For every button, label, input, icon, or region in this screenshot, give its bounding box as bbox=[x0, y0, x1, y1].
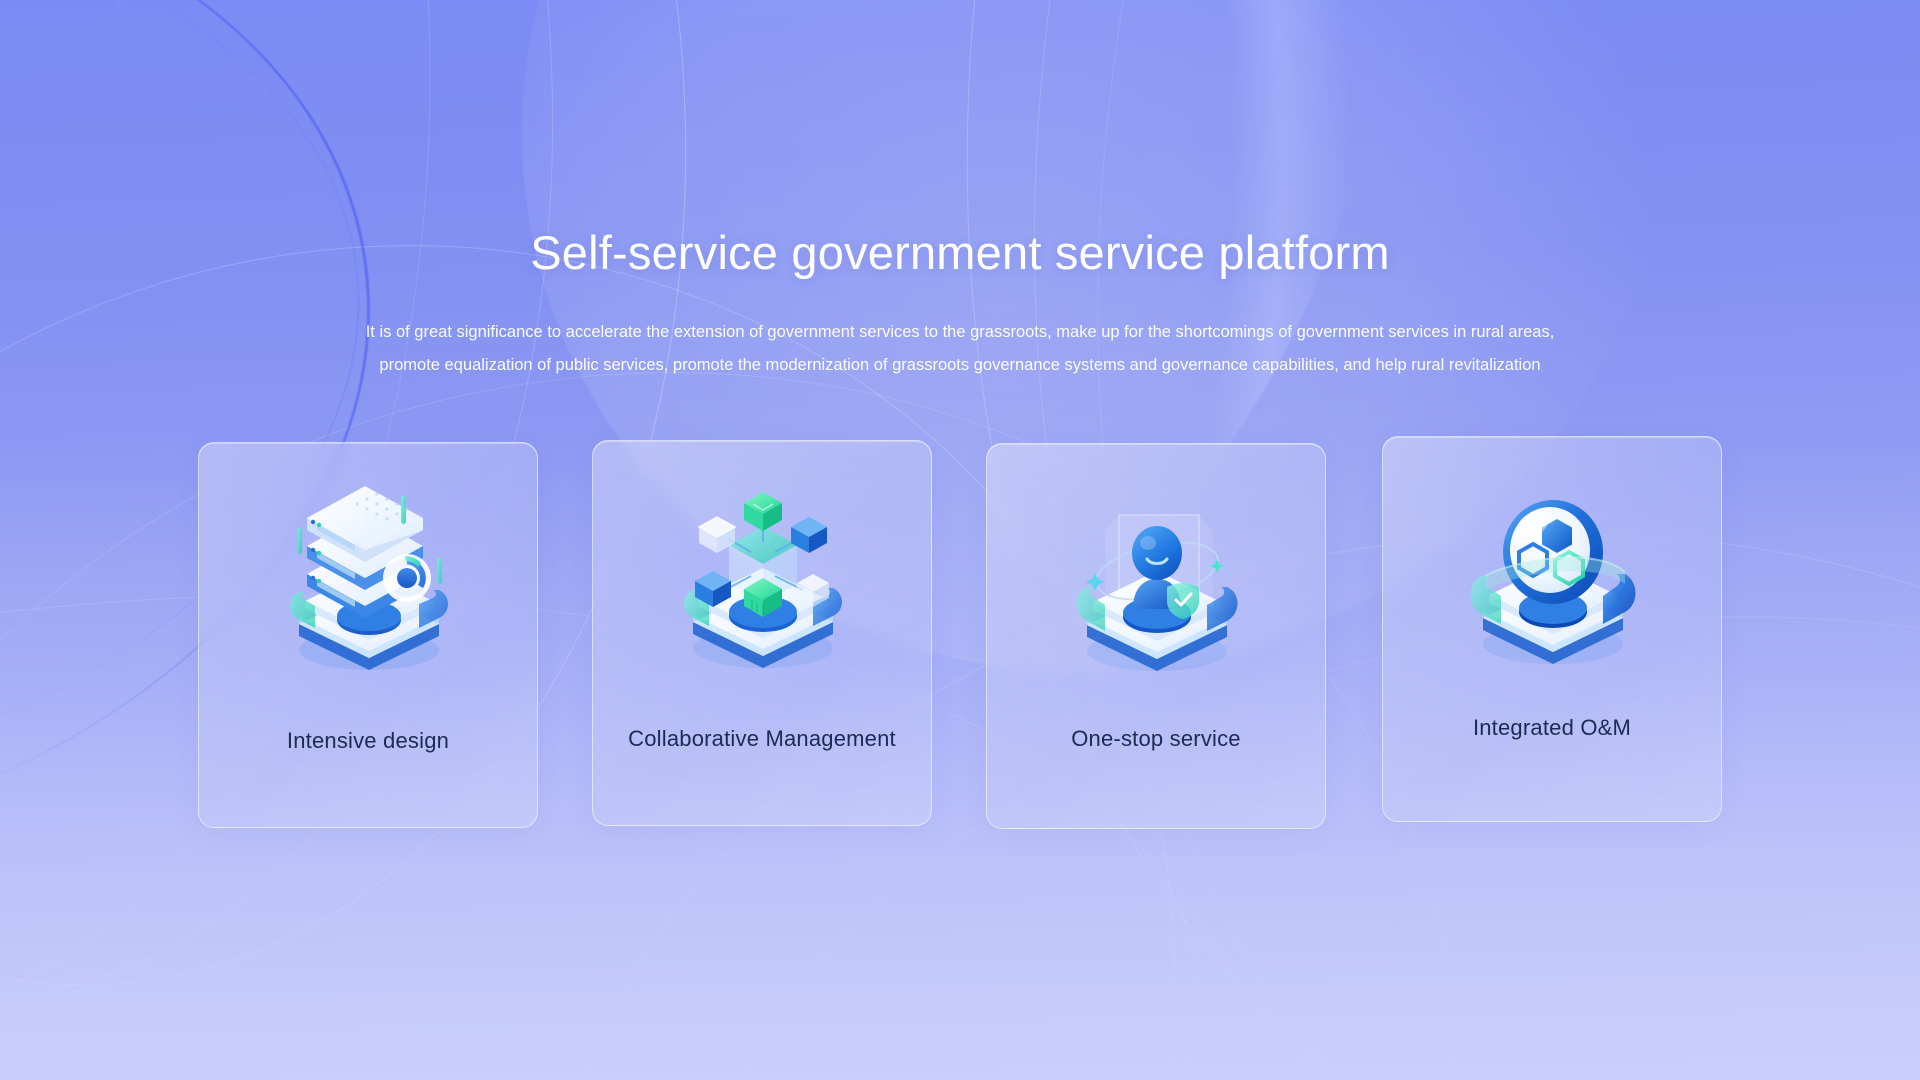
subtitle-line-1: It is of great significance to accelerat… bbox=[260, 316, 1660, 349]
feature-card-list: Intensive design bbox=[198, 442, 1722, 828]
card-label: Collaborative Management bbox=[593, 726, 931, 752]
card-illustration bbox=[987, 462, 1325, 702]
card-label: One-stop service bbox=[987, 726, 1325, 752]
page-root: Self-service government service platform… bbox=[0, 0, 1920, 1080]
card-illustration bbox=[199, 461, 537, 701]
connected-cubes-icon bbox=[655, 472, 870, 687]
card-illustration bbox=[1383, 455, 1721, 695]
card-illustration bbox=[593, 459, 931, 699]
server-stack-icon bbox=[261, 474, 476, 689]
subtitle-line-2: promote equalization of public services,… bbox=[260, 349, 1660, 382]
hexagon-sphere-icon bbox=[1445, 468, 1660, 683]
page-subtitle: It is of great significance to accelerat… bbox=[260, 316, 1660, 382]
card-label: Intensive design bbox=[199, 728, 537, 754]
user-avatar-icon bbox=[1049, 475, 1264, 690]
feature-card-one-stop-service[interactable]: One-stop service bbox=[986, 443, 1326, 829]
feature-card-intensive-design[interactable]: Intensive design bbox=[198, 442, 538, 828]
card-label: Integrated O&M bbox=[1383, 715, 1721, 741]
feature-card-integrated-om[interactable]: Integrated O&M bbox=[1382, 436, 1722, 822]
feature-card-collaborative-management[interactable]: Collaborative Management bbox=[592, 440, 932, 826]
page-content: Self-service government service platform… bbox=[0, 0, 1920, 1080]
page-title: Self-service government service platform bbox=[0, 225, 1920, 280]
